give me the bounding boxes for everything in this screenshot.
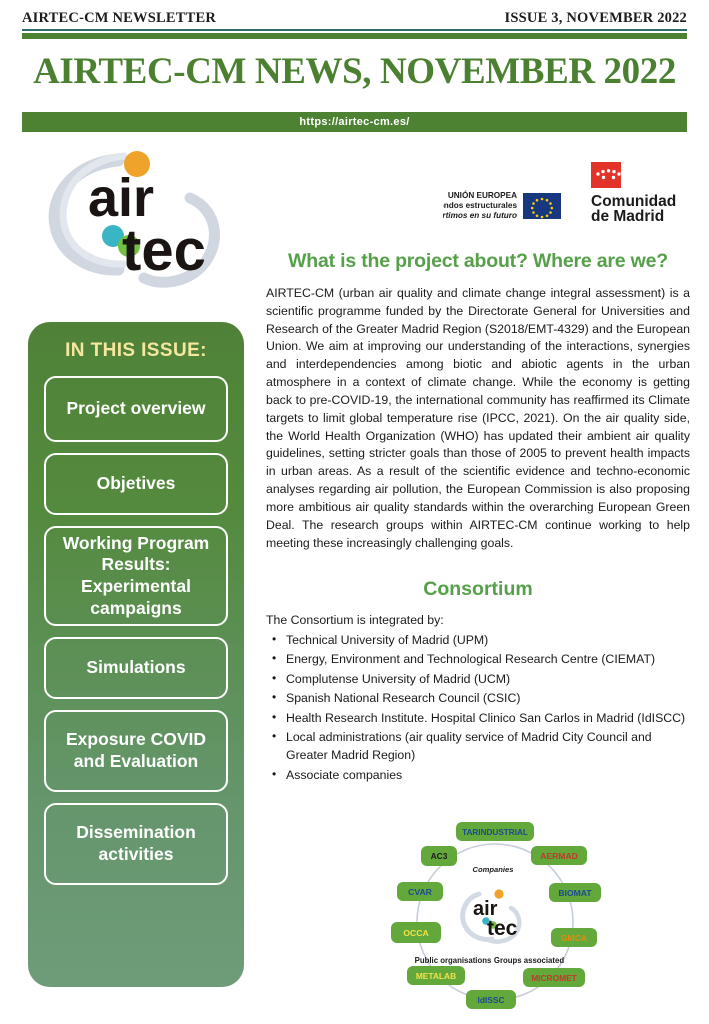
partner-wheel-diagram: TARINDUSTRIAL AERMAD BIOMAT GMCA MICROME… xyxy=(383,822,608,1022)
wheel-node-label: BIOMAT xyxy=(558,888,592,898)
wheel-node-aermad: AERMAD xyxy=(531,846,587,865)
eu-line-1: UNIÓN EUROPEA xyxy=(448,189,517,200)
wheel-node-idissc: IdISSC xyxy=(466,990,516,1009)
sidebar-item-label: Exposure COVID and Evaluation xyxy=(50,729,222,772)
list-item: Associate companies xyxy=(266,766,690,784)
comunidad-de-madrid-mark xyxy=(591,162,621,188)
sidebar-item-label: Objetives xyxy=(97,473,176,495)
wheel-node-label: METALAB xyxy=(416,971,456,981)
masthead: AIRTEC-CM NEWSLETTER ISSUE 3, NOVEMBER 2… xyxy=(22,10,687,27)
sidebar-heading: IN THIS ISSUE: xyxy=(65,340,207,362)
wheel-node-label: IdISSC xyxy=(478,995,505,1005)
wheel-node-metalab: METALAB xyxy=(407,966,465,985)
list-item: Local administrations (air quality servi… xyxy=(266,728,690,765)
sidebar-item-exposure-covid-evaluation[interactable]: Exposure COVID and Evaluation xyxy=(44,710,228,792)
wheel-node-ac3: AC3 xyxy=(421,846,457,866)
wheel-node-label: MICROMET xyxy=(531,973,577,983)
list-item: Complutense University of Madrid (UCM) xyxy=(266,670,690,688)
wheel-center-text-tec: tec xyxy=(487,917,518,940)
airtec-logo-svg: air tec xyxy=(40,138,255,288)
wheel-caption-public-organisations: Public organisations xyxy=(415,956,492,965)
consortium-member-list: Technical University of Madrid (UPM) Ene… xyxy=(266,631,690,785)
sidebar-item-label: Dissemination activities xyxy=(50,822,222,865)
project-about-paragraph: AIRTEC-CM (urban air quality and climate… xyxy=(266,285,690,552)
sidebar-item-dissemination-activities[interactable]: Dissemination activities xyxy=(44,803,228,885)
sidebar-item-label: Project overview xyxy=(66,398,205,420)
wheel-caption-companies: Companies xyxy=(473,865,514,874)
airtec-logo: air tec xyxy=(40,138,255,288)
divider-thick-bar xyxy=(22,33,687,39)
madrid-line-2: de Madrid xyxy=(591,208,664,224)
funder-logos-svg: Comunidad de Madrid UNIÓN EUROPEA Fondos… xyxy=(443,162,688,224)
funder-logos: Comunidad de Madrid UNIÓN EUROPEA Fondos… xyxy=(443,162,688,224)
wheel-node-biomat: BIOMAT xyxy=(549,883,601,902)
wheel-node-label: CVAR xyxy=(408,887,433,897)
masthead-left-title: AIRTEC-CM NEWSLETTER xyxy=(22,10,216,27)
sidebar-item-objetives[interactable]: Objetives xyxy=(44,453,228,515)
eu-line-3: Invertimos en su futuro xyxy=(443,211,517,220)
wheel-node-label: GMCA xyxy=(561,933,587,943)
header-divider xyxy=(22,29,687,39)
sidebar-item-label: Working Program Results: Experimental ca… xyxy=(50,533,222,620)
list-item: Technical University of Madrid (UPM) xyxy=(266,631,690,649)
sidebar-item-label: Simulations xyxy=(86,657,185,679)
wheel-node-label: TARINDUSTRIAL xyxy=(462,828,528,837)
main-content: What is the project about? Where are we?… xyxy=(266,250,690,785)
in-this-issue-sidebar: IN THIS ISSUE: Project overview Objetive… xyxy=(28,322,244,987)
logo-text-tec: tec xyxy=(122,218,206,283)
eu-flag-icon xyxy=(523,193,561,219)
website-url-bar[interactable]: https://airtec-cm.es/ xyxy=(22,112,687,132)
wheel-node-label: AC3 xyxy=(431,851,448,861)
wheel-node-label: OCCA xyxy=(403,928,428,938)
wheel-caption-groups-associated: Groups associated xyxy=(494,956,564,965)
page-title: AIRTEC-CM NEWS, NOVEMBER 2022 xyxy=(0,50,709,93)
newsletter-page: AIRTEC-CM NEWSLETTER ISSUE 3, NOVEMBER 2… xyxy=(0,0,709,1024)
list-item: Spanish National Research Council (CSIC) xyxy=(266,689,690,707)
eu-line-2: Fondos estructurales xyxy=(443,201,517,210)
wheel-node-label: AERMAD xyxy=(540,851,578,861)
sidebar-item-project-overview[interactable]: Project overview xyxy=(44,376,228,442)
website-url-text: https://airtec-cm.es/ xyxy=(299,116,409,128)
list-item: Health Research Institute. Hospital Clin… xyxy=(266,709,690,727)
masthead-issue-label: ISSUE 3, NOVEMBER 2022 xyxy=(505,10,687,27)
wheel-node-gmca: GMCA xyxy=(551,928,597,947)
wheel-node-occa: OCCA xyxy=(391,922,441,943)
project-about-heading: What is the project about? Where are we? xyxy=(266,250,690,273)
consortium-intro: The Consortium is integrated by: xyxy=(266,611,690,629)
wheel-node-cvar: CVAR xyxy=(397,882,443,901)
wheel-node-micromet: MICROMET xyxy=(523,968,585,987)
consortium-heading: Consortium xyxy=(266,578,690,601)
wheel-node-tarindustrial: TARINDUSTRIAL xyxy=(456,822,534,841)
wheel-center-airtec-logo: air tec xyxy=(463,889,519,941)
list-item: Energy, Environment and Technological Re… xyxy=(266,650,690,668)
sidebar-item-working-program-results[interactable]: Working Program Results: Experimental ca… xyxy=(44,526,228,626)
sidebar-item-simulations[interactable]: Simulations xyxy=(44,637,228,699)
partner-wheel-svg: TARINDUSTRIAL AERMAD BIOMAT GMCA MICROME… xyxy=(383,822,608,1022)
